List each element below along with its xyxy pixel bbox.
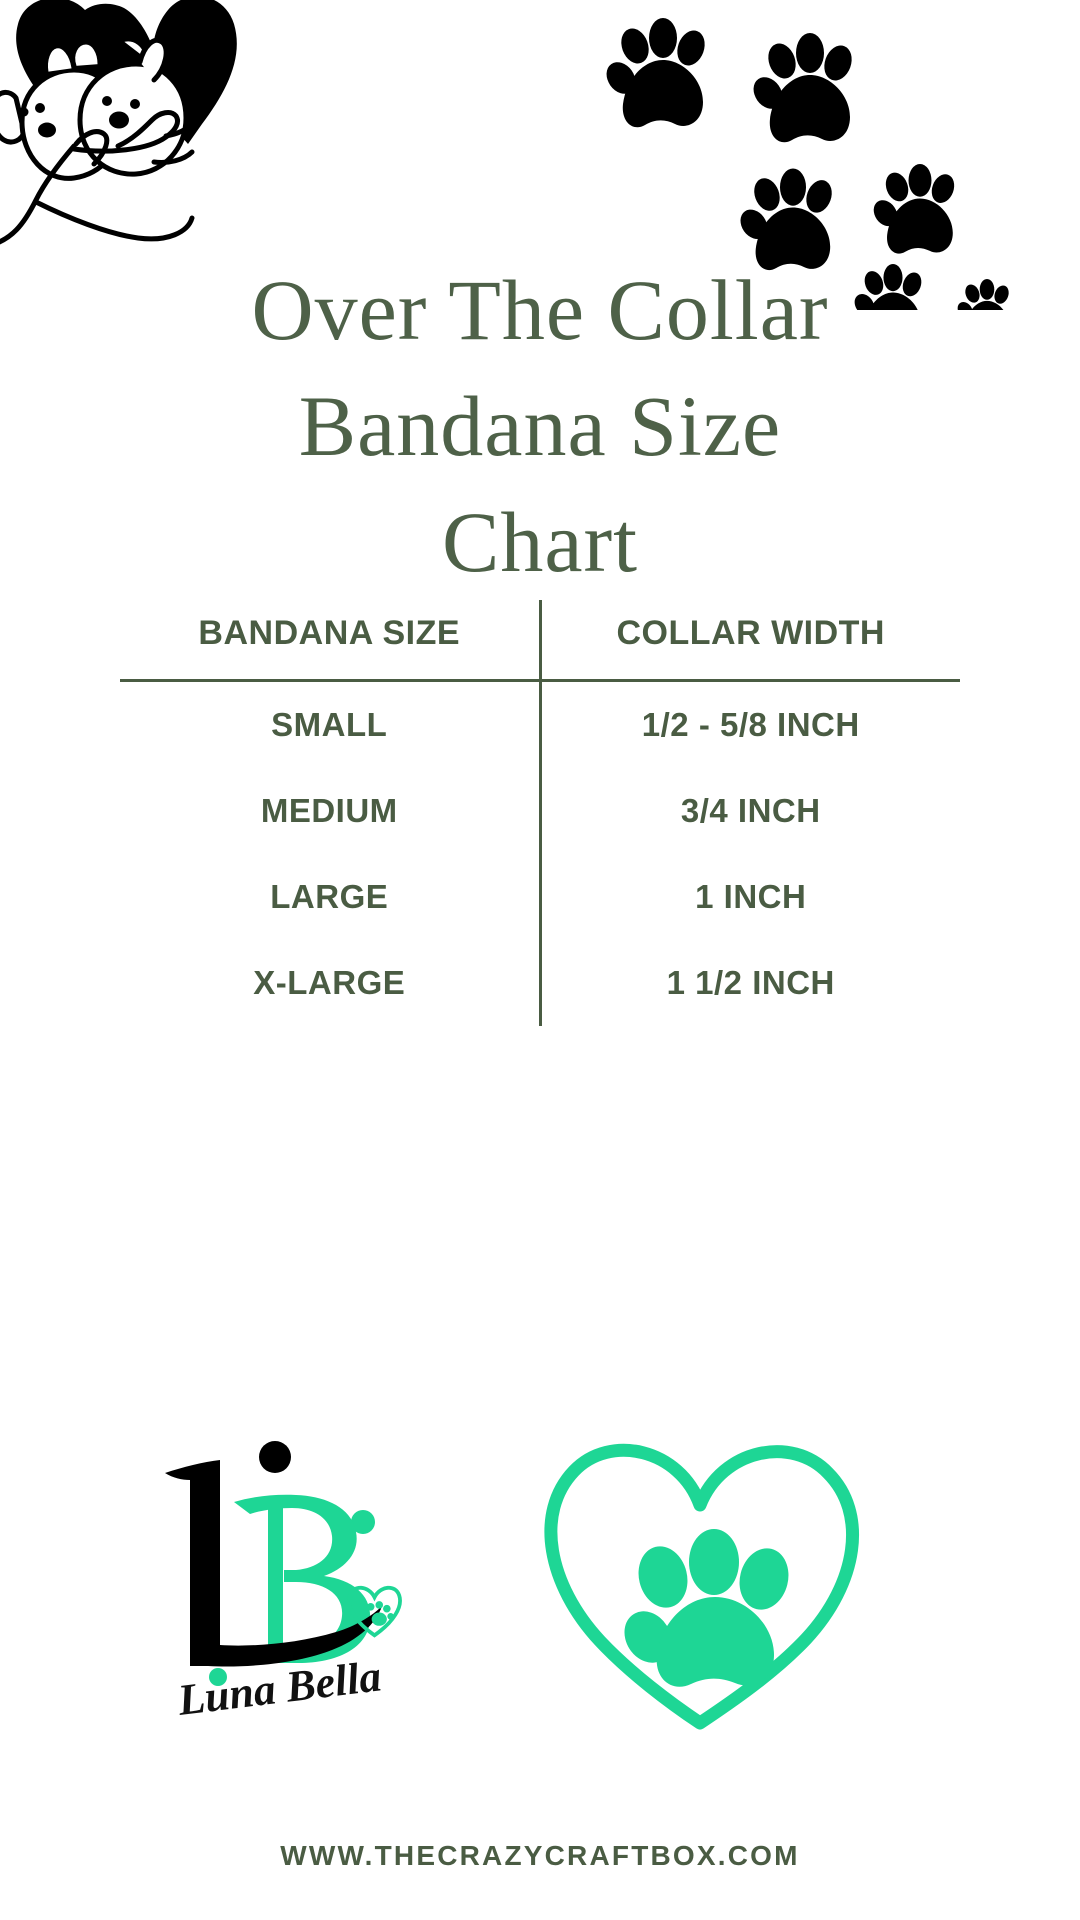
table-header: BANDANA SIZE COLLAR WIDTH <box>120 600 960 681</box>
title-line-1: Over The Collar <box>0 252 1080 368</box>
size-chart-table-wrap: BANDANA SIZE COLLAR WIDTH SMALL 1/2 - 5/… <box>0 600 1080 1026</box>
column-header-bandana-size: BANDANA SIZE <box>120 600 540 681</box>
paw-inside-heart <box>615 1529 795 1687</box>
table-body: SMALL 1/2 - 5/8 INCH MEDIUM 3/4 INCH LAR… <box>120 681 960 1027</box>
hand-holding-two-dogs-icon <box>0 0 318 294</box>
table-header-row: BANDANA SIZE COLLAR WIDTH <box>120 600 960 681</box>
cell-collar-width: 1/2 - 5/8 INCH <box>540 681 960 769</box>
luna-bella-logo-icon: Luna Bella <box>150 1400 490 1730</box>
page-title: Over The Collar Bandana Size Chart <box>0 252 1080 600</box>
heart-with-paw-icon <box>530 1425 870 1735</box>
cell-bandana-size: MEDIUM <box>120 768 540 854</box>
column-header-collar-width: COLLAR WIDTH <box>540 600 960 681</box>
cell-bandana-size: LARGE <box>120 854 540 940</box>
size-chart-page: Over The Collar Bandana Size Chart BANDA… <box>0 0 1080 1920</box>
cell-collar-width: 1 1/2 INCH <box>540 940 960 1026</box>
size-chart-table: BANDANA SIZE COLLAR WIDTH SMALL 1/2 - 5/… <box>120 600 960 1026</box>
cell-collar-width: 1 INCH <box>540 854 960 940</box>
table-row: X-LARGE 1 1/2 INCH <box>120 940 960 1026</box>
table-row: LARGE 1 INCH <box>120 854 960 940</box>
table-row: SMALL 1/2 - 5/8 INCH <box>120 681 960 769</box>
cell-collar-width: 3/4 INCH <box>540 768 960 854</box>
footer-url: WWW.THECRAZYCRAFTBOX.COM <box>0 1840 1080 1872</box>
cell-bandana-size: SMALL <box>120 681 540 769</box>
title-line-3: Chart <box>0 484 1080 600</box>
table-row: MEDIUM 3/4 INCH <box>120 768 960 854</box>
logo-dot-black <box>259 1441 291 1473</box>
title-line-2: Bandana Size <box>0 368 1080 484</box>
cell-bandana-size: X-LARGE <box>120 940 540 1026</box>
brand-row: Luna Bella <box>0 1400 1080 1730</box>
